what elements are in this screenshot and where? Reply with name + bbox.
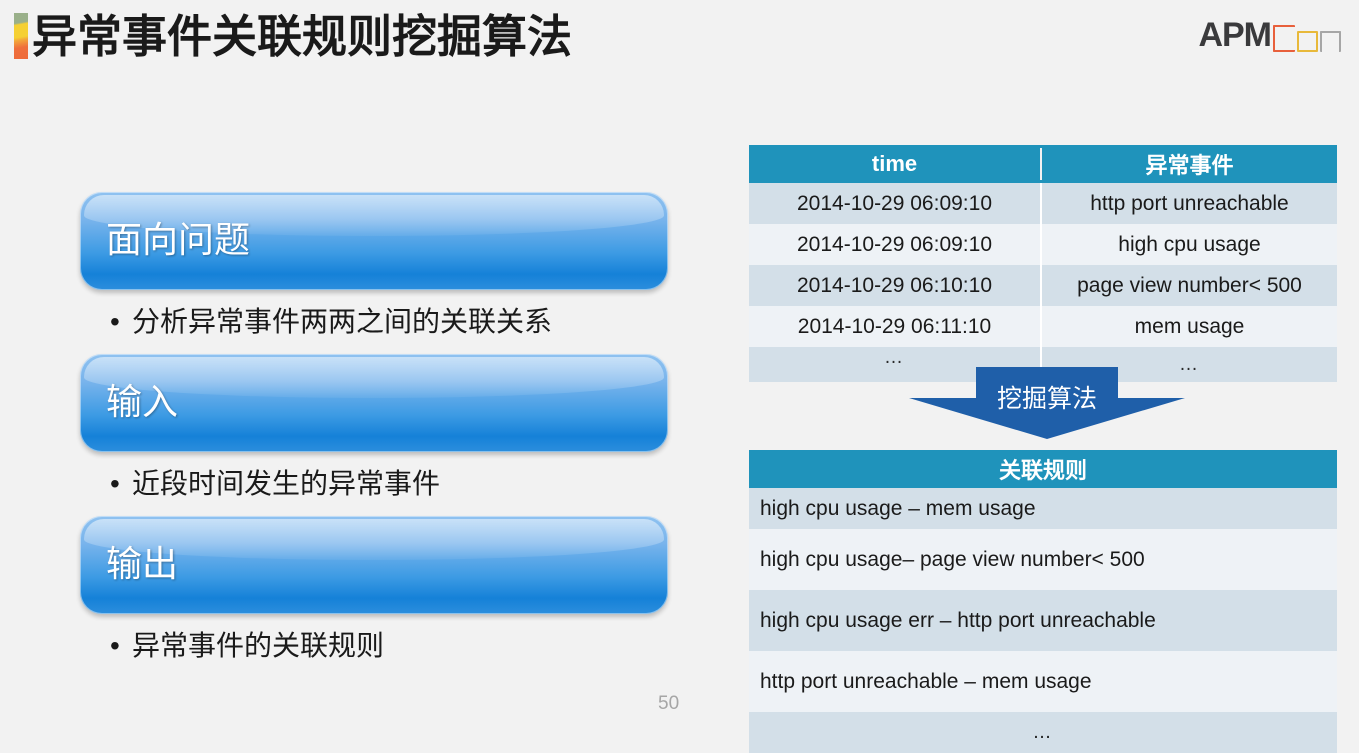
events-cell-time: 2014-10-29 06:09:10 — [749, 192, 1040, 216]
events-table-header-event: 异常事件 — [1040, 148, 1337, 180]
section-bar-output: 输出 — [80, 516, 668, 614]
page-number: 50 — [658, 693, 679, 715]
events-cell-event: high cpu usage — [1040, 224, 1337, 265]
section-bar-problem-label: 面向问题 — [106, 218, 250, 262]
events-cell-time: 2014-10-29 06:10:10 — [749, 274, 1040, 298]
bullet-problem-text: 分析异常事件两两之间的关联关系 — [132, 306, 552, 337]
table-row: 2014-10-29 06:10:10 page view number< 50… — [749, 265, 1337, 306]
logo-letter-n-icon — [1320, 31, 1341, 52]
list-item: … — [749, 712, 1337, 753]
logo-apm-text: APM — [1198, 18, 1271, 52]
events-table: time 异常事件 2014-10-29 06:09:10 http port … — [749, 145, 1337, 382]
logo-letter-o-icon — [1297, 31, 1318, 52]
events-cell-event: http port unreachable — [1040, 183, 1337, 224]
events-table-header-time: time — [749, 151, 1040, 177]
slide-header: 异常事件关联规则挖掘算法 APM — [0, 0, 1359, 78]
list-item: http port unreachable – mem usage — [749, 651, 1337, 712]
section-bar-problem: 面向问题 — [80, 192, 668, 290]
section-bar-output-label: 输出 — [106, 542, 178, 586]
table-row: 2014-10-29 06:09:10 http port unreachabl… — [749, 183, 1337, 224]
events-cell-event: mem usage — [1040, 306, 1337, 347]
events-cell-time: 2014-10-29 06:09:10 — [749, 233, 1040, 257]
table-row: 2014-10-29 06:09:10 high cpu usage — [749, 224, 1337, 265]
events-cell-time: 2014-10-29 06:11:10 — [749, 315, 1040, 339]
logo-letter-c-icon — [1273, 25, 1295, 52]
bullet-marker-icon: • — [110, 466, 132, 502]
title-accent-bar — [14, 13, 28, 59]
page-title: 异常事件关联规则挖掘算法 — [32, 4, 572, 70]
bullet-output: •异常事件的关联规则 — [110, 628, 384, 664]
list-item: high cpu usage – mem usage — [749, 488, 1337, 529]
bullet-marker-icon: • — [110, 628, 132, 664]
bullet-input-text: 近段时间发生的异常事件 — [132, 468, 440, 499]
events-cell-event: page view number< 500 — [1040, 265, 1337, 306]
events-table-header-row: time 异常事件 — [749, 145, 1337, 183]
mining-algorithm-arrow: 挖掘算法 — [908, 366, 1186, 440]
apmcon-logo: APM — [1198, 14, 1341, 52]
bullet-problem: •分析异常事件两两之间的关联关系 — [110, 304, 552, 340]
list-item: high cpu usage– page view number< 500 — [749, 529, 1337, 590]
section-bar-input-label: 输入 — [106, 380, 178, 424]
bullet-output-text: 异常事件的关联规则 — [132, 630, 384, 661]
table-row: 2014-10-29 06:11:10 mem usage — [749, 306, 1337, 347]
bullet-input: •近段时间发生的异常事件 — [110, 466, 440, 502]
list-item: high cpu usage err – http port unreachab… — [749, 590, 1337, 651]
section-bar-input: 输入 — [80, 354, 668, 452]
bullet-marker-icon: • — [110, 304, 132, 340]
rules-table-header: 关联规则 — [749, 450, 1337, 488]
down-arrow-icon — [908, 366, 1186, 440]
rules-table: 关联规则 high cpu usage – mem usage high cpu… — [749, 450, 1337, 753]
